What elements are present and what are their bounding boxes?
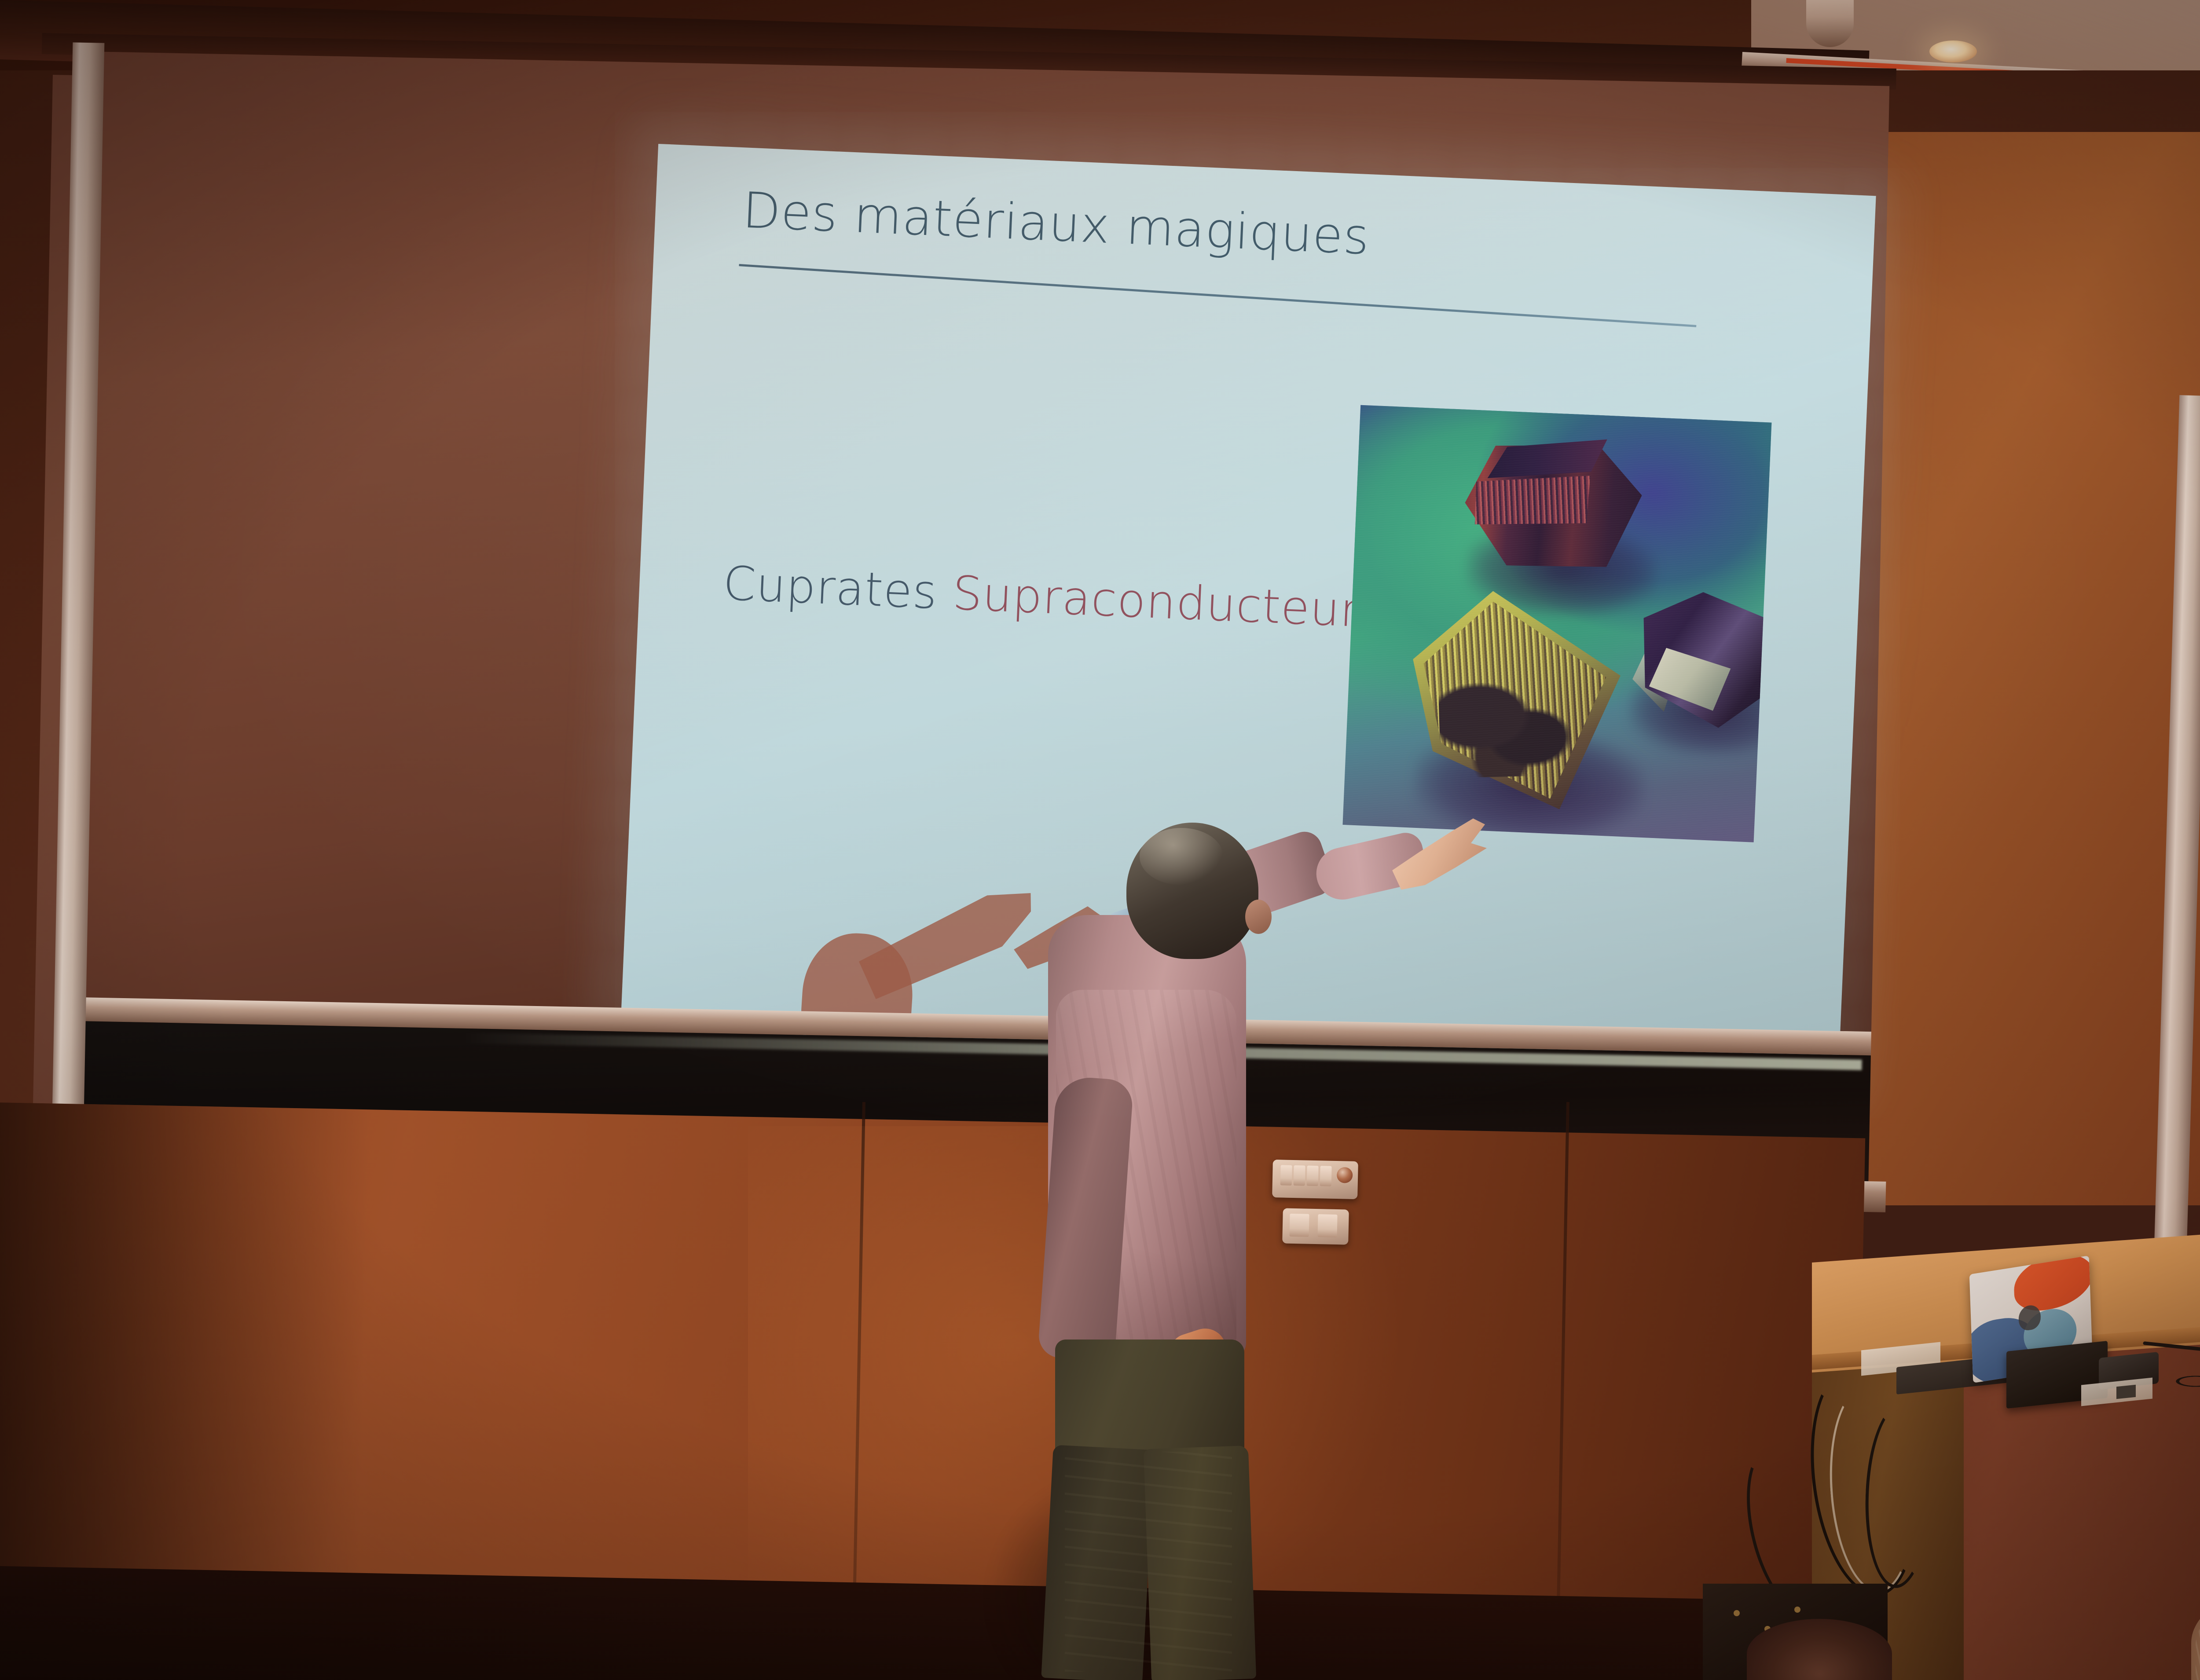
paper-marking bbox=[2116, 1385, 2136, 1399]
slide-body-word-1: Cuprates bbox=[722, 556, 953, 620]
presenter-trouser-sheen bbox=[1065, 1452, 1232, 1672]
slide-body-word-2: Supraconducteurs bbox=[951, 566, 1385, 639]
ceiling-dome-sensor-icon bbox=[1806, 0, 1854, 47]
presenter-hair-highlight bbox=[1140, 828, 1223, 885]
projection-screen-assembly: Des matériaux magiques Cuprates Supracon… bbox=[22, 51, 1896, 1106]
presenter-ear bbox=[1245, 900, 1272, 934]
equipment-led-icon bbox=[1734, 1610, 1740, 1616]
downlight-icon bbox=[1929, 40, 1977, 62]
presenter bbox=[981, 805, 1474, 1680]
slide-title: Des matériaux magiques bbox=[741, 182, 1371, 266]
lecture-hall-photo: Des matériaux magiques Cuprates Supracon… bbox=[0, 0, 2200, 1680]
equipment-led-icon bbox=[1794, 1607, 1800, 1613]
cable-bundle bbox=[2169, 1362, 2200, 1401]
slide-body-text: Cuprates Supraconducteurs bbox=[722, 556, 1386, 638]
crystal-sample-photo bbox=[1342, 405, 1771, 842]
slide-title-underline bbox=[739, 264, 1696, 327]
photo-grain-overlay bbox=[1342, 405, 1771, 842]
